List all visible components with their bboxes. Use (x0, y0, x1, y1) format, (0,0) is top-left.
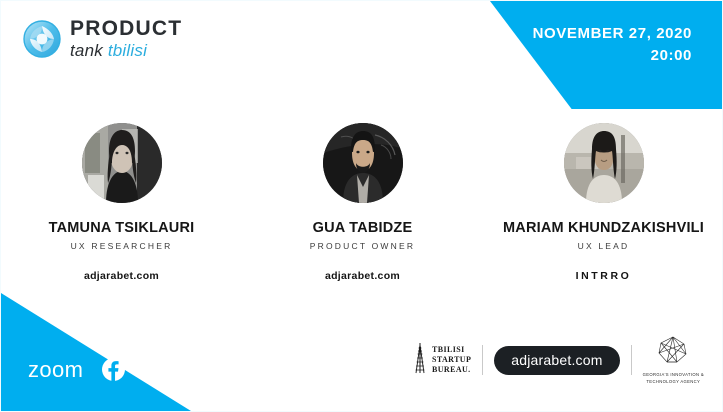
product-tank-circle-icon (23, 20, 61, 58)
event-time: 20:00 (533, 45, 692, 67)
event-datetime: NOVEMBER 27, 2020 20:00 (533, 23, 692, 67)
speaker-name: GUA TABIDZE (313, 220, 413, 236)
brand-name-product: PRODUCT (70, 18, 182, 39)
sponsor-adjarabet: adjarabet.com (494, 346, 619, 375)
speaker-role: UX RESEARCHER (71, 241, 173, 251)
speaker-photo-tamuna (82, 123, 162, 203)
brand-wordmark: PRODUCT tank tbilisi (70, 18, 182, 59)
speaker-company: adjarabet.com (325, 270, 400, 282)
tsb-line-1: TBILISI (432, 345, 465, 354)
event-date: NOVEMBER 27, 2020 (533, 23, 692, 45)
sponsor-tbilisi-startup-bureau: TBILISI STARTUP BUREAU. (413, 342, 471, 379)
adjarabet-pill-label[interactable]: adjarabet.com (494, 346, 619, 375)
sponsor-divider (631, 345, 632, 375)
streaming-platforms: zoom (28, 358, 125, 381)
tsb-wordmark: TBILISI STARTUP BUREAU. (432, 345, 471, 375)
event-poster: PRODUCT tank tbilisi NOVEMBER 27, 2020 2… (0, 0, 723, 412)
speaker-photo-mariam (564, 123, 644, 203)
speaker-role: PRODUCT OWNER (310, 241, 415, 251)
speaker-name: TAMUNA TSIKLAURI (49, 220, 195, 236)
zoom-wordmark-icon[interactable]: zoom (28, 359, 83, 381)
bottom-left-accent-shape (1, 293, 191, 411)
sponsor-gita: GEORGIA'S INNOVATION & TECHNOLOGY AGENCY (643, 335, 704, 385)
speaker-card: MARIAM KHUNDZAKISHVILI UX LEAD INTRRO (483, 123, 723, 282)
facebook-icon[interactable] (102, 358, 125, 381)
speaker-company: adjarabet.com (84, 270, 159, 282)
speaker-list: TAMUNA TSIKLAURI UX RESEARCHER adjarabet… (1, 123, 723, 282)
speaker-card: TAMUNA TSIKLAURI UX RESEARCHER adjarabet… (1, 123, 242, 282)
gita-caption: GEORGIA'S INNOVATION & TECHNOLOGY AGENCY (643, 372, 704, 385)
tv-tower-icon (413, 342, 427, 379)
brand-logo: PRODUCT tank tbilisi (23, 18, 182, 59)
tsb-line-3: BUREAU. (432, 365, 471, 374)
speaker-company: INTRRO (576, 270, 632, 282)
brand-name-tank: tank (70, 41, 108, 60)
tsb-line-2: STARTUP (432, 355, 471, 364)
brand-name-tank-tbilisi: tank tbilisi (70, 42, 182, 59)
speaker-photo-gua (323, 123, 403, 203)
speaker-card: GUA TABIDZE PRODUCT OWNER adjarabet.com (242, 123, 483, 282)
crystal-gem-icon (656, 335, 690, 370)
sponsor-logos: TBILISI STARTUP BUREAU. adjarabet.com (413, 335, 704, 385)
speaker-role: UX LEAD (578, 241, 630, 251)
brand-name-tbilisi: tbilisi (108, 41, 147, 60)
speaker-name: MARIAM KHUNDZAKISHVILI (503, 220, 704, 236)
sponsor-divider (482, 345, 483, 375)
